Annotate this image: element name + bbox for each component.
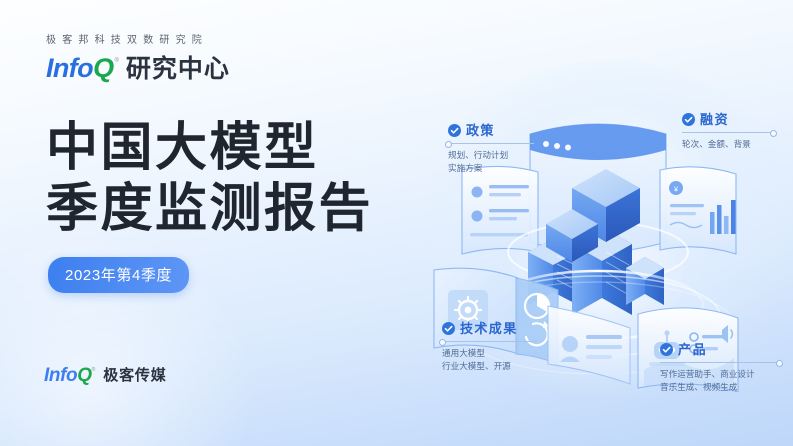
callout-policy-rule xyxy=(448,143,534,144)
callout-tech-rule xyxy=(442,341,538,342)
callout-product-sub-1: 写作运营助手、商业设计 xyxy=(660,368,780,381)
document-panel-left xyxy=(462,166,538,254)
quarter-badge: 2023年第4季度 xyxy=(48,257,189,293)
check-circle-icon xyxy=(442,322,455,335)
footer-infoq-logo-info: Info xyxy=(44,365,77,386)
poster-canvas: 极客邦科技双数研究院 InfoQ ® 研究中心 中国大模型 季度监测报告 202… xyxy=(0,0,793,446)
callout-policy: 政策 规划、行动计划 实施方案 xyxy=(448,124,534,176)
chart-panel-right: ¥ xyxy=(660,167,736,254)
gear-icon xyxy=(455,297,481,323)
callout-policy-subtext: 规划、行动计划 实施方案 xyxy=(448,149,534,176)
footer-infoq-logo: InfoQ xyxy=(44,366,92,385)
callout-policy-sub-1: 规划、行动计划 xyxy=(448,149,534,162)
callout-funding: 融资 轮次、金额、背景 xyxy=(682,113,774,151)
callout-funding-title: 融资 xyxy=(700,113,729,126)
check-circle-icon xyxy=(660,343,673,356)
infoq-logo-info: Info xyxy=(46,53,93,83)
page-title-line-1: 中国大模型 xyxy=(46,118,373,179)
brand-cn-name: 研究中心 xyxy=(126,57,230,82)
brand-lockup: 极客邦科技双数研究院 InfoQ ® 研究中心 xyxy=(46,36,230,82)
page-title-line-2: 季度监测报告 xyxy=(46,179,373,240)
brand-logo-row: InfoQ ® 研究中心 xyxy=(46,55,230,82)
callout-funding-sub-1: 轮次、金额、背景 xyxy=(682,138,774,151)
callout-tech-sub-2: 行业大模型、开源 xyxy=(442,360,538,373)
footer-trademark-icon: ® xyxy=(92,368,96,373)
footer-cn-name: 极客传媒 xyxy=(103,368,166,383)
page-title: 中国大模型 季度监测报告 xyxy=(46,118,373,241)
callout-policy-head: 政策 xyxy=(448,124,534,137)
footer-brand-lockup: InfoQ ® 极客传媒 xyxy=(44,366,167,385)
callout-funding-rule xyxy=(682,132,774,133)
footer-infoq-logo-q: Q xyxy=(77,365,91,386)
check-circle-icon xyxy=(682,113,695,126)
callout-policy-sub-2: 实施方案 xyxy=(448,162,534,175)
callout-tech-subtext: 通用大模型 行业大模型、开源 xyxy=(442,347,538,374)
check-circle-icon xyxy=(448,124,461,137)
infoq-logo-q: Q xyxy=(93,53,113,83)
callout-funding-subtext: 轮次、金额、背景 xyxy=(682,138,774,151)
callout-funding-head: 融资 xyxy=(682,113,774,126)
brand-kicker: 极客邦科技双数研究院 xyxy=(46,36,230,46)
callout-tech-title: 技术成果 xyxy=(460,322,518,335)
callout-tech-sub-1: 通用大模型 xyxy=(442,347,538,360)
callout-product-title: 产品 xyxy=(678,343,707,356)
callout-product-head: 产品 xyxy=(660,343,780,356)
callout-tech-head: 技术成果 xyxy=(442,322,538,335)
callout-tech: 技术成果 通用大模型 行业大模型、开源 xyxy=(442,322,538,374)
left-column: 极客邦科技双数研究院 InfoQ ® 研究中心 中国大模型 季度监测报告 202… xyxy=(0,0,430,446)
callout-product-rule xyxy=(660,362,780,363)
callout-product-sub-2: 音乐生成、视频生成 xyxy=(660,381,780,394)
callout-policy-title: 政策 xyxy=(466,124,495,137)
infoq-trademark-icon: ® xyxy=(114,58,118,64)
callout-product: 产品 写作运营助手、商业设计 音乐生成、视频生成 xyxy=(660,343,780,395)
infoq-logo: InfoQ xyxy=(46,55,113,82)
callout-product-subtext: 写作运营助手、商业设计 音乐生成、视频生成 xyxy=(660,368,780,395)
